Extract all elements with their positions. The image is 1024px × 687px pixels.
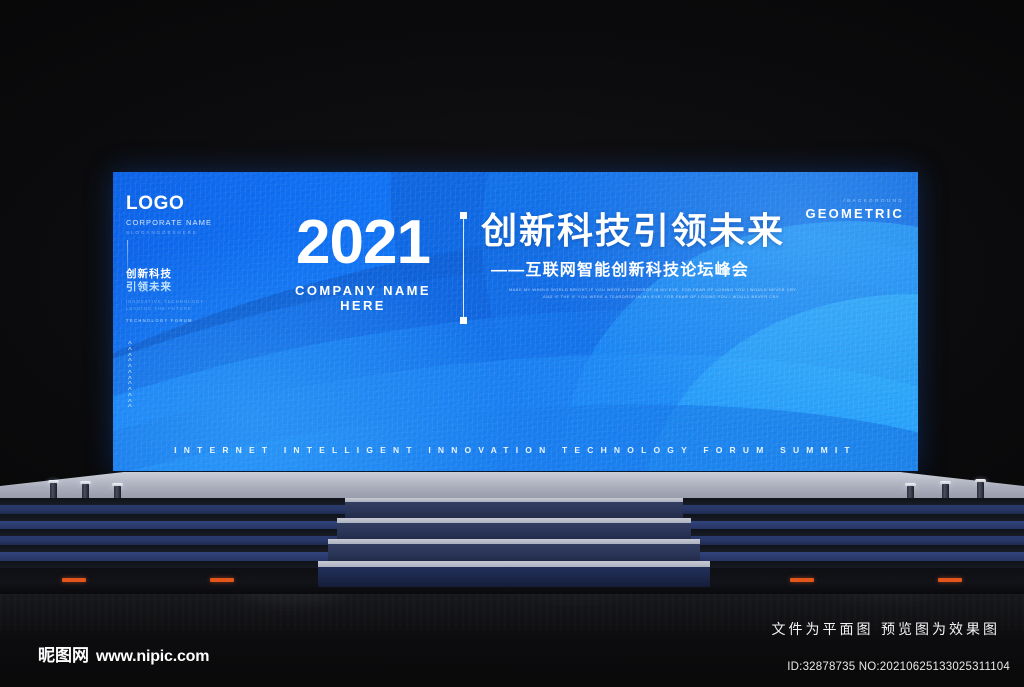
chevron-column: ^ ^ ^ ^ ^ ^ ^ ^ ^ ^ ^ ^ [128,342,132,411]
logo-corporate-name: CORPORATE NAME [126,218,212,227]
stage-deck [0,470,1024,500]
headline-block: 创新科技引领未来 ——互联网智能创新科技论坛峰会 MAKE MY WHOLE W… [481,212,798,300]
kick-light [938,578,962,582]
watermark: 昵图网 www.nipic.com [38,648,209,665]
divider-dot-bottom [460,317,467,324]
spotlight-fixture [48,480,59,500]
riser-band [0,536,1024,545]
watermark-brand-cn: 昵图网 [38,648,89,665]
riser-band [0,552,1024,561]
logo-title: LOGO [126,194,212,213]
logo-block: LOGO CORPORATE NAME SLOGANGOESHERE [126,194,212,235]
logo-slogan: SLOGANGOESHERE [126,230,212,235]
geometric-label: GEOMETRIC [805,206,904,221]
preview-note-cn: 文件为平面图 预览图为效果图 [772,619,1000,639]
vertical-divider [460,212,467,324]
riser-band [0,545,1024,552]
fineprint-line-2: AND IF THE IF YOU WERE A TEARDROP,IN MY … [509,294,798,301]
riser-band [0,514,1024,521]
fineprint-block: MAKE MY WHOLE WORLD BRIGHT,IF YOU WERE A… [481,287,798,300]
riser-band [0,529,1024,536]
spotlight-body [977,482,984,499]
year-text: 2021 [273,214,453,273]
geometric-sublabel: /BACKGROUND [805,198,904,203]
geometric-block: /BACKGROUND GEOMETRIC [805,198,904,221]
company-name-text: COMPANY NAME HERE [273,283,453,313]
spotlight-fixture [975,479,986,499]
side-text-en-line2: LEADING THE FUTURE [126,306,204,311]
kick-light [62,578,86,582]
chevron-up-icon: ^ [128,405,132,411]
year-block: 2021 COMPANY NAME HERE [273,214,453,313]
bottom-strip: INTERNET INTELLIGENT INNOVATION TECHNOLO… [113,445,918,455]
riser-band [0,521,1024,529]
kick-light [210,578,234,582]
watermark-url: www.nipic.com [96,649,209,665]
kick-light [790,578,814,582]
riser-band [0,505,1024,514]
asset-id-text: ID:32878735 NO:20210625133025311104 [787,661,1010,673]
side-text-cn-line2: 引领未来 [126,281,204,294]
subheadline-text: ——互联网智能创新科技论坛峰会 [481,256,798,280]
side-text-block: 创新科技 引领未来 INNOVATIVE TECHNOLOGY LEADING … [126,268,204,323]
riser-band [0,498,1024,505]
side-text-cn-line1: 创新科技 [126,268,204,281]
side-text-en-line1: INNOVATIVE TECHNOLOGY [126,299,204,304]
bottom-strip-text: INTERNET INTELLIGENT INNOVATION TECHNOLO… [113,445,918,455]
stage-risers [0,498,1024,570]
stage-front-base [0,568,1024,594]
fineprint-line-1: MAKE MY WHOLE WORLD BRIGHT,IF YOU WERE A… [509,287,798,294]
stage-backdrop-board: LOGO CORPORATE NAME SLOGANGOESHERE 创新科技 … [113,172,918,471]
side-text-en-line3: TECHNOLOGY FORUM [126,318,204,323]
headline-text: 创新科技引领未来 [481,212,798,250]
divider-bar [463,216,464,320]
